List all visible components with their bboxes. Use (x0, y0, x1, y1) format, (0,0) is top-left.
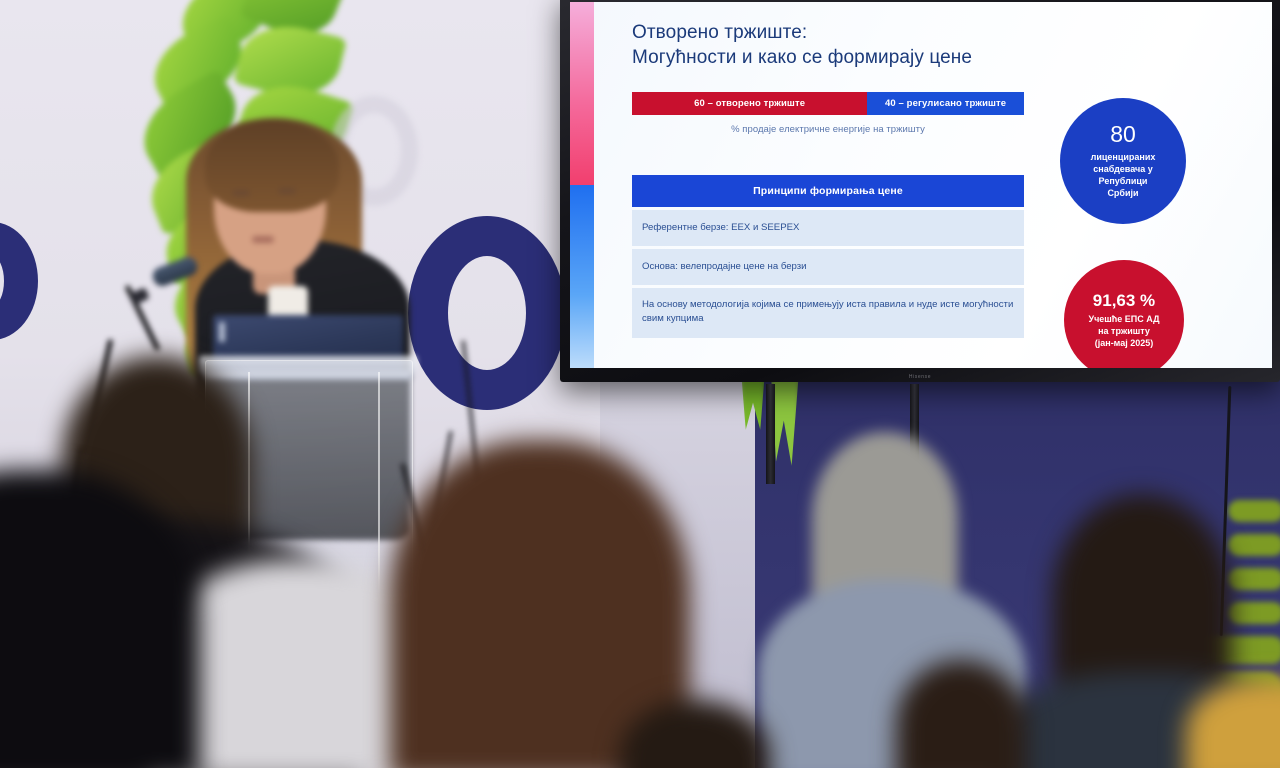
market-split-bar: 60 – отворено тржиште 40 – регулисано тр… (632, 92, 1024, 115)
bar-caption: % продаје електричне енергије на тржишту (632, 124, 1024, 135)
speaker-mouth (252, 236, 274, 243)
slide-body: Отворено тржиште: Могућности и како се ф… (594, 2, 1272, 368)
slide-left-column: 60 – отворено тржиште 40 – регулисано тр… (632, 92, 1024, 338)
speaker-hair-front (205, 120, 339, 212)
badge-number: 91,63 % (1093, 292, 1155, 309)
banner-green-block-e (1228, 602, 1280, 624)
banner-green-block-c (1228, 534, 1280, 556)
slide-accent-stripe (570, 2, 594, 368)
price-principles-table: Принципи формирања цене Референтне берзе… (632, 175, 1024, 338)
table-row: На основу методологија којима се примењу… (632, 288, 1024, 338)
slide-right-column: 80 лиценцираних снабдевача у Републици С… (1042, 92, 1250, 338)
accent-stripe-bottom (570, 185, 594, 368)
badge-eps-market-share: 91,63 % Учешће ЕПС АД на тржишту (јан-ма… (1064, 260, 1184, 368)
tv-bezel: Отворено тржиште: Могућности и како се ф… (560, 0, 1280, 382)
backdrop-letter-o-large (408, 216, 566, 410)
badge-number: 80 (1110, 123, 1136, 146)
banner-green-block-d (1228, 568, 1280, 590)
television: Отворено тржиште: Могућности и како се ф… (560, 0, 1280, 382)
table-row: Основа: велепродајне цене на берзи (632, 249, 1024, 285)
tv-brand-label: Hisense (909, 374, 931, 380)
speaker-eye-right (278, 188, 296, 194)
accent-stripe-top (570, 2, 594, 185)
slide-content-columns: 60 – отворено тржиште 40 – регулисано тр… (632, 92, 1250, 338)
table-row: Референтне берзе: EEX и SEEPEX (632, 210, 1024, 246)
speaker-eye-left (232, 190, 250, 196)
presentation-slide: Отворено тржиште: Могућности и како се ф… (570, 2, 1272, 368)
bar-segment-open-market: 60 – отворено тржиште (632, 92, 867, 115)
screenshot-stage: Отворено тржиште: Могућности и како се ф… (0, 0, 1280, 768)
badge-licensed-suppliers: 80 лиценцираних снабдевача у Републици С… (1060, 98, 1186, 224)
table-header: Принципи формирања цене (632, 175, 1024, 207)
banner-green-block-b (1228, 500, 1280, 522)
tv-screen[interactable]: Отворено тржиште: Могућности и како се ф… (570, 2, 1272, 368)
badge-caption: лиценцираних снабдевача у Републици Срби… (1091, 151, 1156, 199)
badge-caption: Учешће ЕПС АД на тржишту (јан-мај 2025) (1088, 313, 1159, 349)
slide-title: Отворено тржиште: Могућности и како се ф… (632, 20, 1250, 70)
bar-segment-regulated-market: 40 – регулисано тржиште (867, 92, 1024, 115)
laptop-screen-highlight (219, 322, 225, 342)
tv-stand-post-left (766, 384, 775, 484)
